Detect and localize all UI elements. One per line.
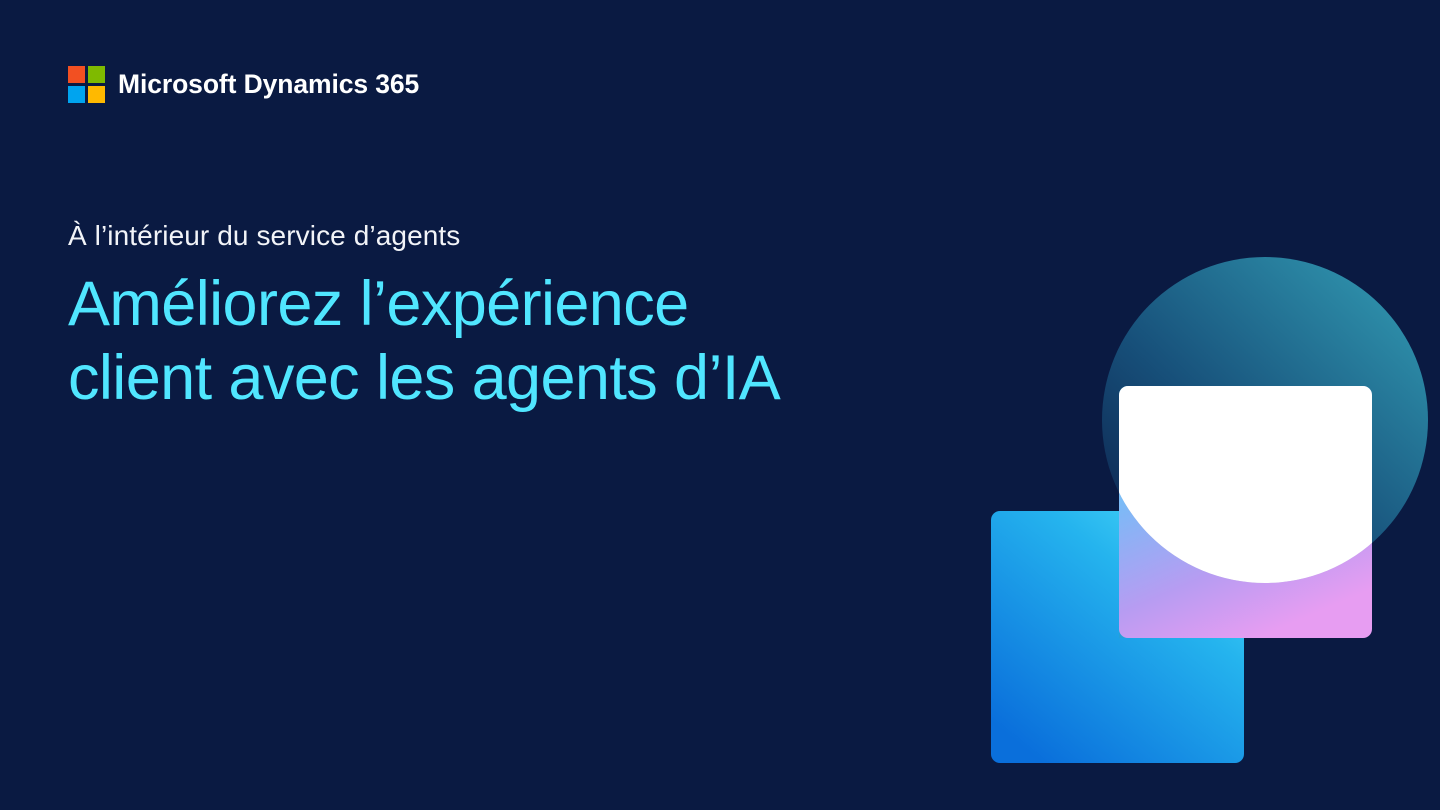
- dynamics-365-abstract-mark: [960, 230, 1440, 810]
- headline-line-1: Améliorez l’expérience: [68, 268, 1028, 342]
- slide-canvas: Microsoft Dynamics 365 À l’intérieur du …: [0, 0, 1440, 810]
- logo-square-green: [88, 66, 105, 83]
- page-title: Améliorez l’expérience client avec les a…: [68, 268, 1028, 415]
- brand-name: Microsoft Dynamics 365: [118, 71, 419, 98]
- eyebrow-text: À l’intérieur du service d’agents: [68, 218, 1028, 254]
- headline-line-2: client avec les agents d’IA: [68, 342, 1028, 416]
- logo-square-blue: [68, 86, 85, 103]
- artwork-svg: [960, 230, 1440, 810]
- brand-lockup: Microsoft Dynamics 365: [68, 64, 419, 104]
- microsoft-logo-icon: [68, 66, 105, 103]
- copy-block: À l’intérieur du service d’agents Amélio…: [68, 218, 1028, 416]
- logo-square-red: [68, 66, 85, 83]
- logo-square-yellow: [88, 86, 105, 103]
